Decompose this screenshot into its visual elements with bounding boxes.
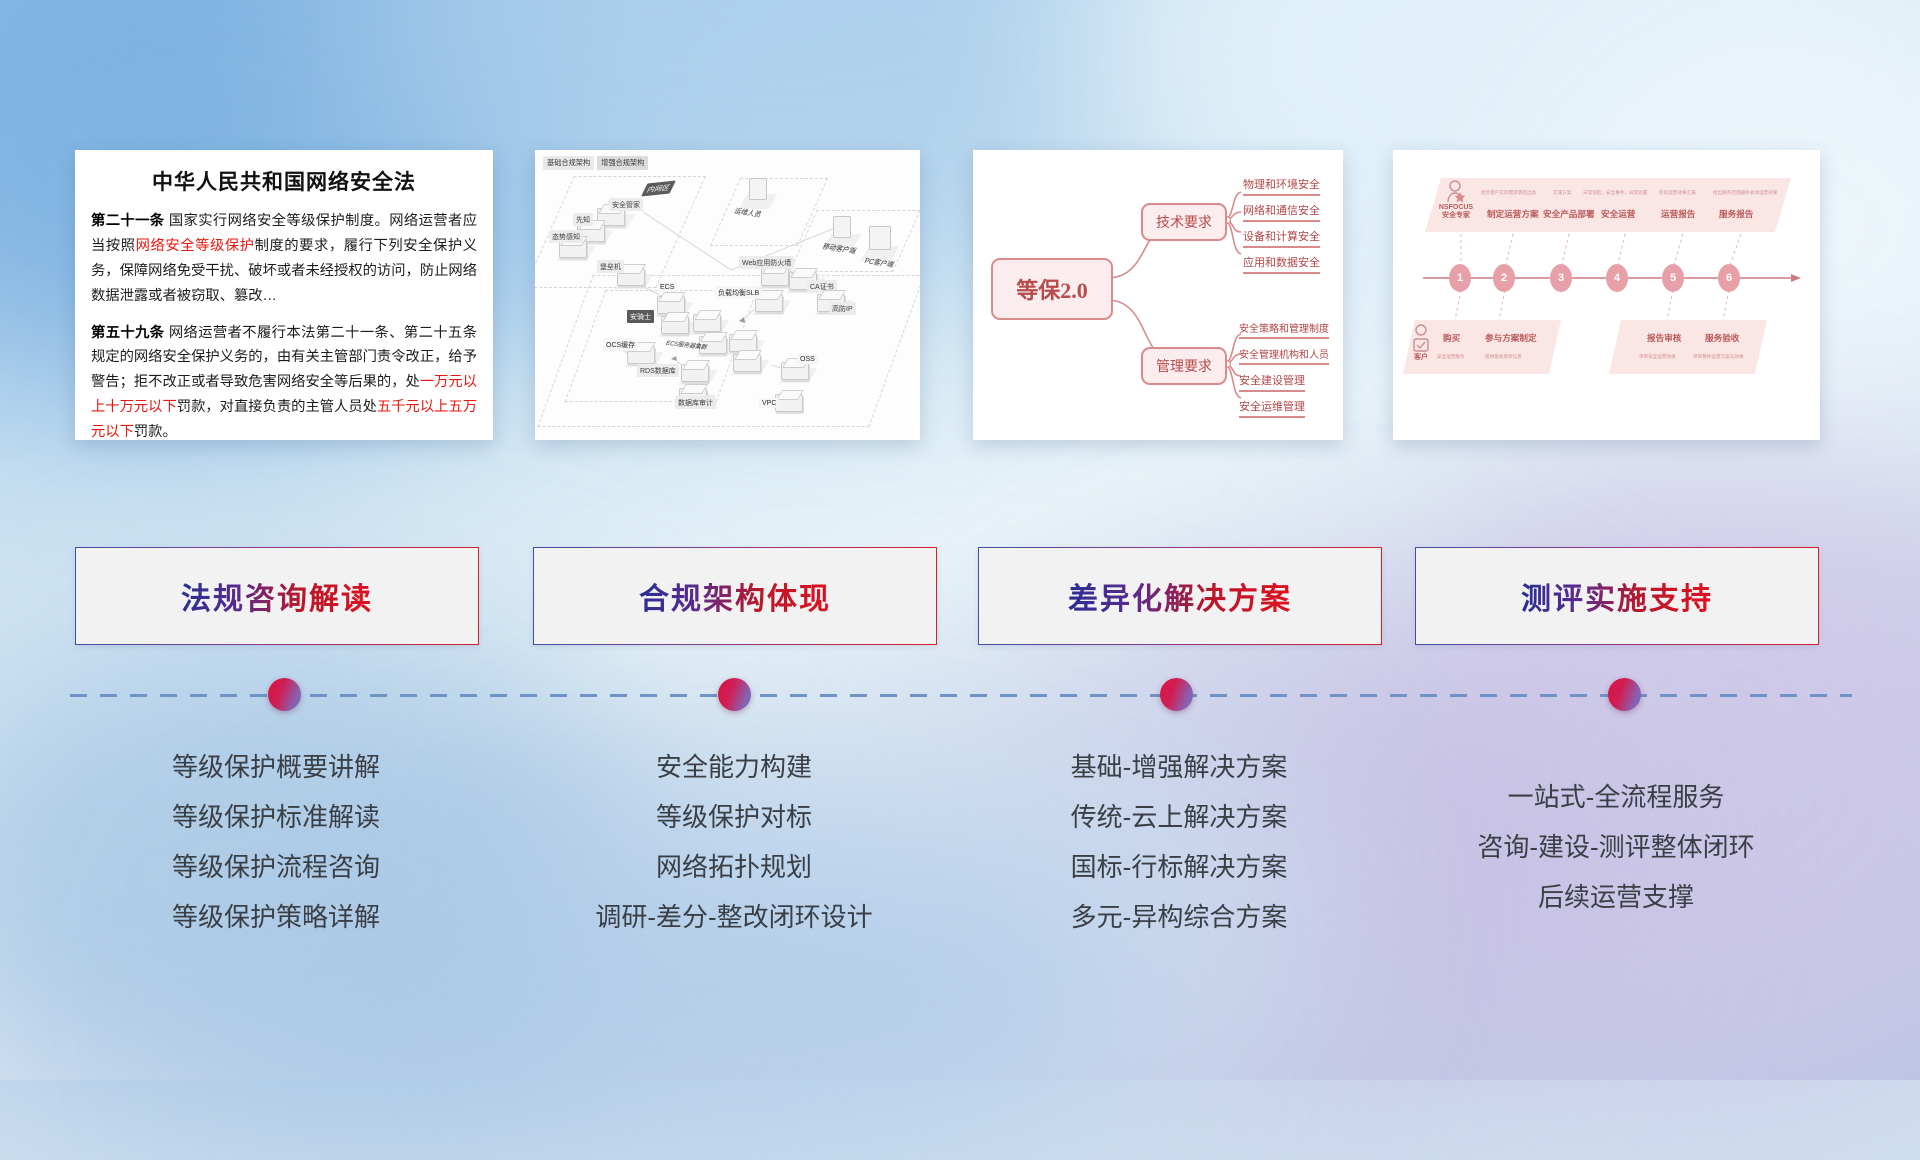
architecture-label-ecs: ECS	[657, 282, 677, 292]
architecture-diagram: 基础合规架构 增强合规架构	[535, 150, 920, 440]
timeline-top-title-4: 运营报告	[1661, 208, 1695, 220]
architecture-label-oss: OSS	[797, 354, 818, 364]
timeline-node-1[interactable]	[268, 678, 301, 711]
list-item: 咨询-建设-测评整体闭环	[1415, 822, 1817, 872]
timeline-top-sub-2: 实施方案	[1553, 190, 1571, 196]
timeline-bottom-title-4: 服务验收	[1705, 332, 1739, 344]
architecture-label-bastion-host: 堡垒机	[597, 260, 624, 273]
timeline-bottom-sub-2: 提供基本现状信息	[1485, 354, 1522, 360]
timeline-top-title-2: 安全产品部署	[1543, 208, 1595, 220]
timeline-dashed-line	[70, 694, 1852, 697]
timeline-bottom-sub-1: 安全运营服务	[1437, 354, 1465, 360]
architecture-label-db-audit: 数据库审计	[675, 396, 716, 409]
list-item: 等级保护对标	[533, 792, 935, 842]
timeline-top-sub-4: 阶段运营效果汇报	[1659, 190, 1696, 196]
section-heading-box-1[interactable]: 法规咨询解读	[75, 547, 479, 645]
law-document: 中华人民共和国网络安全法 第二十一条 国家实行网络安全等级保护制度。网络运营者应…	[75, 150, 493, 440]
law-article-21-label: 第二十一条	[91, 213, 164, 229]
timeline-top-sub-5: 给出服务范围最终总体运营效果	[1713, 190, 1777, 196]
law-article-59-text2: 罚款，对直接负责的主管人员处	[177, 399, 377, 415]
law-article-59: 第五十九条 网络运营者不履行本法第二十一条、第二十五条规定的网络安全保护义务的，…	[91, 321, 477, 441]
list-item: 网络拓扑规划	[533, 842, 935, 892]
list-item: 传统-云上解决方案	[978, 792, 1380, 842]
architecture-label-xianzhi: 先知	[573, 213, 593, 226]
card-cybersecurity-law: 中华人民共和国网络安全法 第二十一条 国家实行网络安全等级保护制度。网络运营者应…	[75, 150, 493, 440]
section-heading-row: 法规咨询解读 合规架构体现 差异化解决方案 测评实施支持	[0, 547, 1920, 653]
section-detail-lists: 等级保护概要讲解 等级保护标准解读 等级保护流程咨询 等级保护策略详解 安全能力…	[0, 742, 1920, 1022]
law-article-21-highlight: 网络安全等级保护	[136, 238, 255, 254]
detail-list-4: 一站式-全流程服务 咨询-建设-测评整体闭环 后续运营支撑	[1415, 772, 1817, 922]
mindmap-leaf-device-compute: 设备和计算安全	[1243, 228, 1320, 248]
architecture-label-slb: 负载均衡SLB	[715, 286, 762, 299]
list-item: 等级保护标准解读	[75, 792, 477, 842]
section-heading-label-3: 差异化解决方案	[1068, 574, 1292, 618]
timeline-step-2: 2	[1493, 264, 1515, 292]
list-item: 安全能力构建	[533, 742, 935, 792]
timeline-step-3: 3	[1550, 264, 1572, 292]
timeline-bottom-title-2: 参与方案制定	[1485, 332, 1537, 344]
timeline-step-5: 5	[1662, 264, 1684, 292]
architecture-label-vpc: VPC	[759, 398, 779, 408]
mindmap-leaf-construction-mgmt: 安全建设管理	[1239, 372, 1305, 392]
mindmap-diagram: 等保2.0 技术要求 物理和环境安全 网络和通信安全 设备和计算安全 应用和数据…	[973, 150, 1343, 440]
timeline-bottom-band-left	[1403, 320, 1561, 374]
section-heading-label-1: 法规咨询解读	[181, 574, 373, 618]
law-article-59-label: 第五十九条	[91, 325, 164, 341]
list-item: 等级保护策略详解	[75, 892, 477, 942]
image-card-row: 中华人民共和国网络安全法 第二十一条 国家实行网络安全等级保护制度。网络运营者应…	[0, 150, 1920, 450]
section-heading-label-4: 测评实施支持	[1521, 574, 1713, 618]
list-item: 调研-差分-整改闭环设计	[533, 892, 935, 942]
architecture-label-situational-awareness: 态势感知	[549, 230, 583, 243]
timeline-bottom-sub-3: 评审安全运营效果	[1639, 354, 1676, 360]
mindmap-leaf-physical-env: 物理和环境安全	[1243, 176, 1320, 196]
mindmap-branch-technical: 技术要求	[1141, 203, 1227, 241]
law-title: 中华人民共和国网络安全法	[91, 166, 477, 196]
timeline-top-sub-3: 日常巡检、安全事件、异常处置	[1583, 190, 1647, 196]
timeline-step-6: 6	[1718, 264, 1740, 292]
architecture-label-rds-db: RDS数据库	[637, 364, 679, 377]
timeline-bottom-band-right	[1609, 320, 1767, 374]
mindmap-branch-management: 管理要求	[1141, 347, 1227, 385]
list-item: 基础-增强解决方案	[978, 742, 1380, 792]
timeline-top-title-5: 服务报告	[1719, 208, 1753, 220]
mindmap-leaf-policy-system: 安全策略和管理制度	[1239, 320, 1329, 339]
architecture-label-anqishi: 安骑士	[627, 310, 654, 323]
section-heading-box-3[interactable]: 差异化解决方案	[978, 547, 1382, 645]
list-item: 等级保护概要讲解	[75, 742, 477, 792]
card-compliance-architecture: 基础合规架构 增强合规架构	[535, 150, 920, 440]
list-item: 等级保护流程咨询	[75, 842, 477, 892]
timeline-step-4: 4	[1606, 264, 1628, 292]
architecture-label-waf: Web应用防火墙	[739, 256, 794, 269]
mindmap-root-node: 等保2.0	[991, 258, 1113, 320]
detail-list-1: 等级保护概要讲解 等级保护标准解读 等级保护流程咨询 等级保护策略详解	[75, 742, 477, 942]
mindmap-leaf-app-data: 应用和数据安全	[1243, 254, 1320, 274]
timeline-bottom-title-1: 购买	[1443, 332, 1460, 344]
card-mindmap-dengbao: 等保2.0 技术要求 物理和环境安全 网络和通信安全 设备和计算安全 应用和数据…	[973, 150, 1343, 440]
section-heading-label-2: 合规架构体现	[639, 574, 831, 618]
timeline-node-3[interactable]	[1160, 678, 1193, 711]
timeline-node-2[interactable]	[718, 678, 751, 711]
architecture-label-anti-ddos-ip: 高防IP	[829, 302, 856, 315]
timeline-bottom-sub-4: 评审整体运营方案与效果	[1693, 354, 1744, 360]
timeline-role-customer: 客户	[1401, 354, 1441, 362]
mindmap-leaf-network-comm: 网络和通信安全	[1243, 202, 1320, 222]
list-item: 一站式-全流程服务	[1415, 772, 1817, 822]
timeline-top-sub-1: 结合客户实际需求明后出具	[1481, 190, 1536, 196]
timeline-top-title-1: 制定运营方案	[1487, 208, 1539, 220]
detail-list-3: 基础-增强解决方案 传统-云上解决方案 国标-行标解决方案 多元-异构综合方案	[978, 742, 1380, 942]
timeline-step-1: 1	[1449, 264, 1471, 292]
list-item: 多元-异构综合方案	[978, 892, 1380, 942]
list-item: 国标-行标解决方案	[978, 842, 1380, 892]
timeline-top-title-3: 安全运营	[1601, 208, 1635, 220]
timeline-bottom-title-3: 报告审核	[1647, 332, 1681, 344]
section-heading-box-4[interactable]: 测评实施支持	[1415, 547, 1819, 645]
detail-list-2: 安全能力构建 等级保护对标 网络拓扑规划 调研-差分-整改闭环设计	[533, 742, 935, 942]
law-article-21: 第二十一条 国家实行网络安全等级保护制度。网络运营者应当按照网络安全等级保护制度…	[91, 209, 477, 309]
list-item: 后续运营支撑	[1415, 872, 1817, 922]
mindmap-leaf-org-personnel: 安全管理机构和人员	[1239, 346, 1329, 365]
section-heading-box-2[interactable]: 合规架构体现	[533, 547, 937, 645]
timeline-node-4[interactable]	[1608, 678, 1641, 711]
mindmap-leaf-ops-mgmt: 安全运维管理	[1239, 398, 1305, 418]
card-nsfocus-service-timeline: NSFOCUS安全专家 客户 结合客户实际需求明后出具 制定运营方案 实施方案 …	[1393, 150, 1820, 440]
service-timeline-diagram: NSFOCUS安全专家 客户 结合客户实际需求明后出具 制定运营方案 实施方案 …	[1393, 150, 1820, 440]
architecture-label-ocs-cache: OCS缓存	[603, 338, 638, 351]
law-article-59-text3: 罚款。	[134, 424, 177, 440]
timeline-axis	[70, 694, 1852, 698]
timeline-role-expert: NSFOCUS安全专家	[1427, 204, 1485, 221]
slide-stage: 中华人民共和国网络安全法 第二十一条 国家实行网络安全等级保护制度。网络运营者应…	[0, 0, 1920, 1080]
architecture-label-security-butler: 安全管家	[609, 198, 643, 211]
